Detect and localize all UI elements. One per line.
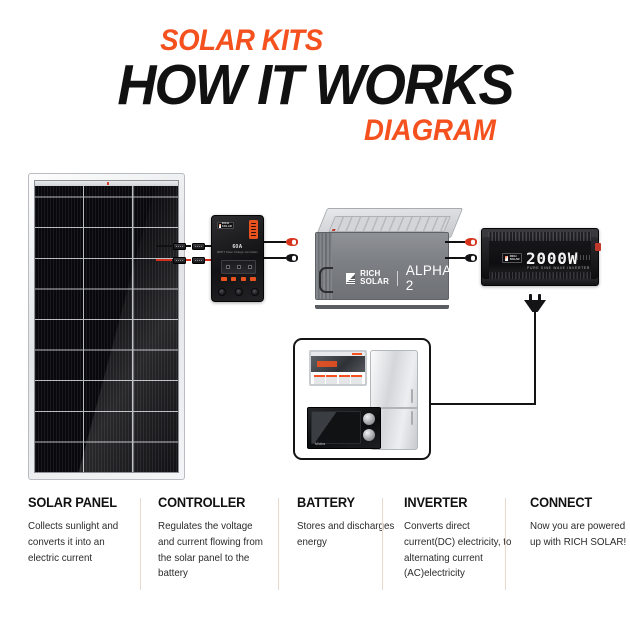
cable-wire-positive [445, 241, 465, 244]
lcd-segment [248, 265, 252, 269]
vent-slot [251, 232, 257, 234]
caption-divider [140, 498, 141, 590]
mc4-lead-mid-negative [186, 245, 191, 248]
inverter-brand-text: RICHSOLAR [510, 255, 520, 261]
caption-title: SOLAR PANEL [28, 495, 134, 510]
caption-body: Collects sunlight and converts it into a… [28, 519, 136, 566]
battery-brand-divider [397, 271, 398, 286]
microwave-door [311, 411, 361, 444]
caption-row: SOLAR PANEL Collects sunlight and conver… [0, 495, 630, 630]
terminal-port [235, 288, 243, 296]
battery-body: RICHSOLAR ALPHA 2 [315, 232, 449, 300]
controller-button-row[interactable] [221, 277, 256, 281]
battery-base [315, 305, 449, 309]
page-title: HOW IT WORKS [16, 58, 615, 113]
solar-panel [28, 173, 185, 480]
controller-button[interactable] [241, 277, 247, 281]
lcd-segment [237, 265, 241, 269]
title-block: SOLAR KITS HOW IT WORKS DIAGRAM [0, 26, 630, 146]
controller-vent-slots [249, 220, 258, 239]
ring-terminal-negative [286, 254, 298, 262]
title-kicker: SOLAR KITS [25, 26, 605, 56]
content-tile [326, 375, 337, 384]
microwave-brand-text: Midea [315, 442, 325, 446]
charge-controller[interactable]: RICHSOLAR 60A MPPT Solar Charge Controll… [211, 215, 264, 302]
mc4-lead-mid-positive [186, 259, 191, 262]
vent-slot [251, 226, 257, 228]
inverter-ac-outlet [595, 243, 601, 251]
content-tile [314, 375, 325, 384]
inverter-body: RICHSOLAR 2000W PURE SINE WAVE INVERTER [481, 228, 599, 286]
mc4-plug-male-positive [173, 257, 186, 264]
content-tile [351, 375, 362, 384]
controller-button[interactable] [221, 277, 227, 281]
caption-title: CONNECT [530, 495, 630, 510]
inverter: RICHSOLAR 2000W PURE SINE WAVE INVERTER [481, 228, 599, 286]
caption-title: INVERTER [404, 495, 516, 510]
inverter-brand-logo: RICHSOLAR [502, 253, 522, 263]
battery-cell-caps [328, 216, 450, 232]
laptop-hero-image [311, 356, 365, 372]
ac-cord-horizontal [424, 403, 536, 405]
cable-wire-negative [445, 257, 465, 260]
controller-to-battery-negative-cable [264, 254, 298, 262]
vent-slot [251, 223, 257, 225]
appliance-box: Midea [293, 338, 431, 460]
rich-solar-mark-icon [346, 273, 355, 284]
plug-prong [538, 294, 541, 301]
fridge-handle-upper [411, 389, 413, 403]
battery-handle [319, 267, 333, 293]
caption-column-solar-panel: SOLAR PANEL Collects sunlight and conver… [28, 495, 140, 566]
caption-column-battery: BATTERY Stores and discharges energy [297, 495, 409, 551]
inverter-side-vents [574, 255, 590, 260]
inverter-heat-fins-bottom [488, 272, 592, 279]
caption-column-connect: CONNECT Now you are powered up with RICH… [530, 495, 630, 551]
caption-divider [278, 498, 279, 590]
microwave-knob [363, 429, 375, 441]
controller-amperage-label: 60A [212, 244, 263, 250]
caption-divider [505, 498, 506, 590]
vent-slot [251, 235, 257, 237]
plug-prong [529, 294, 532, 301]
caption-body: Stores and discharges energy [297, 519, 405, 551]
microwave-knobs [362, 413, 375, 441]
fridge-handle-lower [411, 411, 413, 425]
plug-prongs [529, 294, 541, 301]
mc4-plug-female-positive [192, 257, 205, 264]
battery-to-inverter-positive-cable [445, 238, 477, 246]
terminal-port [218, 288, 226, 296]
caption-title: BATTERY [297, 495, 403, 510]
cable-wire-positive [264, 241, 286, 244]
inverter-end-plate-left [482, 237, 489, 279]
controller-model-label: MPPT Solar Charge Controller [212, 251, 263, 254]
vent-slot [251, 229, 257, 231]
caption-body: Converts direct current(DC) electricity,… [404, 519, 517, 582]
laptop-content-tiles [314, 375, 362, 384]
solar-panel-glass [34, 180, 179, 473]
title-subline: DIAGRAM [25, 116, 605, 146]
rich-solar-mark-icon [219, 224, 221, 228]
caption-column-controller: CONTROLLER Regulates the voltage and cur… [158, 495, 270, 582]
terminal-port [251, 288, 259, 296]
mc4-lead-negative-in [156, 245, 172, 248]
cable-wire-negative [264, 257, 286, 260]
controller-button[interactable] [250, 277, 256, 281]
laptop-screen [309, 350, 367, 386]
battery: RICHSOLAR ALPHA 2 [303, 208, 451, 306]
microwave-icon: Midea [307, 407, 381, 449]
battery-brand-block: RICHSOLAR ALPHA 2 [346, 263, 453, 293]
laptop-icon [307, 350, 369, 392]
controller-to-battery-positive-cable [264, 238, 298, 246]
caption-body: Now you are powered up with RICH SOLAR! [530, 519, 630, 551]
caption-title: CONTROLLER [158, 495, 264, 510]
controller-button[interactable] [231, 277, 237, 281]
mc4-plug-male-negative [173, 243, 186, 250]
controller-brand-logo: RICHSOLAR [217, 222, 234, 229]
battery-to-inverter-negative-cable [445, 254, 477, 262]
solar-panel-indicator [107, 182, 109, 185]
rich-solar-mark-icon [505, 256, 509, 261]
lcd-segment [226, 265, 230, 269]
ac-cord-vertical [534, 311, 536, 405]
ac-plug-icon [524, 294, 546, 312]
caption-body: Regulates the voltage and current flowin… [158, 519, 266, 582]
microwave-knob [363, 413, 375, 425]
mc4-plug-female-negative [192, 243, 205, 250]
caption-divider [382, 498, 383, 590]
diagram-stage: RICHSOLAR 60A MPPT Solar Charge Controll… [0, 160, 630, 490]
ring-terminal-positive [465, 238, 477, 246]
content-tile [339, 375, 350, 384]
battery-brand-text: RICHSOLAR [360, 270, 389, 286]
controller-terminal-ports [218, 288, 259, 296]
mc4-lead-positive-in [156, 259, 172, 262]
battery-model-label: ALPHA 2 [406, 263, 453, 293]
controller-brand-text: RICHSOLAR [222, 223, 232, 229]
ring-terminal-negative [465, 254, 477, 262]
inverter-subtitle-label: PURE SINE WAVE INVERTER [527, 266, 590, 270]
inverter-heat-fins-top [488, 232, 592, 241]
ring-terminal-positive [286, 238, 298, 246]
controller-lcd-display [221, 260, 256, 274]
